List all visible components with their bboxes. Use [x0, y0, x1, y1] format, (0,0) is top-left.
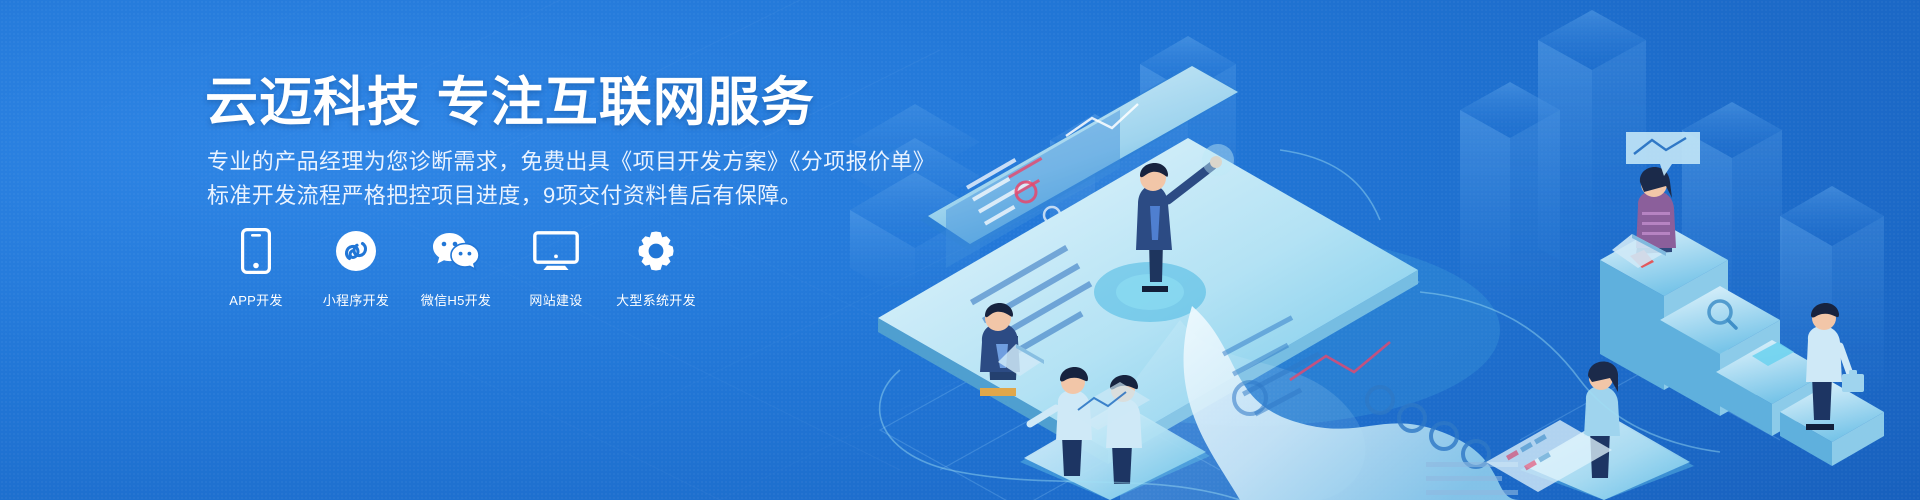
service-item-app[interactable]: APP开发 [219, 228, 293, 309]
service-label: 大型系统开发 [616, 290, 696, 309]
gear-icon [635, 228, 677, 274]
service-list: APP开发 小程序开发 [219, 228, 693, 309]
hero-banner: 云迈科技 专注互联网服务 专业的产品经理为您诊断需求，免费出具《项目开发方案》《… [0, 0, 1920, 500]
service-item-miniprogram[interactable]: 小程序开发 [319, 228, 393, 309]
service-item-wechat-h5[interactable]: 微信H5开发 [419, 228, 493, 309]
service-label: 网站建设 [529, 290, 582, 309]
mini-program-icon [335, 228, 377, 274]
banner-title: 云迈科技 专注互联网服务 [205, 72, 815, 134]
wechat-icon [432, 228, 480, 274]
subtitle-line-1: 专业的产品经理为您诊断需求，免费出具《项目开发方案》《分项报价单》 [207, 145, 927, 179]
service-label: APP开发 [229, 290, 283, 309]
service-label: 小程序开发 [323, 290, 390, 309]
service-item-large-system[interactable]: 大型系统开发 [619, 228, 693, 309]
banner-content: 云迈科技 专注互联网服务 专业的产品经理为您诊断需求，免费出具《项目开发方案》《… [205, 0, 965, 500]
service-item-website[interactable]: 网站建设 [519, 228, 593, 309]
subtitle-line-2: 标准开发流程严格把控项目进度，9项交付资料售后有保障。 [207, 179, 927, 213]
mobile-phone-icon [241, 228, 271, 274]
banner-subtitle: 专业的产品经理为您诊断需求，免费出具《项目开发方案》《分项报价单》 标准开发流程… [207, 145, 927, 213]
monitor-icon [533, 228, 579, 274]
service-label: 微信H5开发 [421, 290, 491, 309]
